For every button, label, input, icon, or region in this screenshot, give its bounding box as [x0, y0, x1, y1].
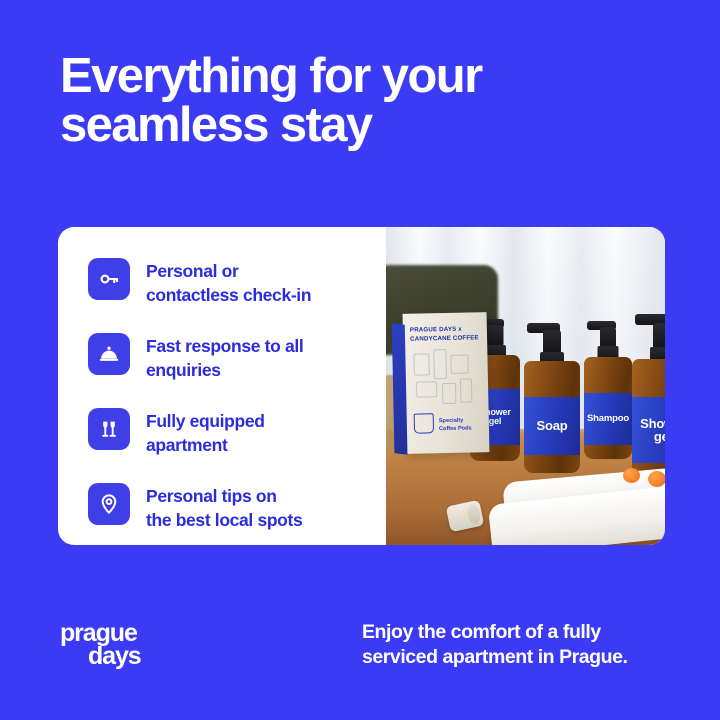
- feature-line-2: apartment: [146, 435, 227, 455]
- photo-bottle-3: Shampoo: [584, 323, 632, 459]
- feature-card: Personal or contactless check-in Fast re…: [58, 227, 665, 545]
- feature-line-1: Fast response to all: [146, 336, 303, 356]
- feature-item-label: Fast response to all enquiries: [146, 333, 303, 382]
- feature-line-2: enquiries: [146, 360, 221, 380]
- photo-bottle-4: Shower gel: [632, 317, 665, 483]
- coffee-bag-subtitle: Specialty Coffee Pods: [439, 418, 472, 433]
- coffee-bag-title-line-1: PRAGUE DAYS x: [410, 326, 462, 334]
- feature-line-2: contactless check-in: [146, 285, 311, 305]
- feature-line-2: the best local spots: [146, 510, 302, 530]
- photo-earplug-1: [623, 468, 640, 483]
- feature-item-local-tips: Personal tips on the best local spots: [88, 483, 386, 532]
- photo-coffee-bag: PRAGUE DAYS x CANDYCANE COFFEE Specialty…: [403, 312, 490, 454]
- footer-tagline: Enjoy the comfort of a fully serviced ap…: [362, 620, 682, 670]
- bottle-label-line-2: gel: [489, 416, 501, 426]
- page-title: Everything for your seamless stay: [60, 52, 700, 150]
- page-title-line-1: Everything for your: [60, 49, 482, 103]
- feature-line-1: Personal tips on: [146, 486, 277, 506]
- bottle-cap: [653, 323, 665, 349]
- glasses-icon: [88, 408, 130, 450]
- page-title-line-2: seamless stay: [60, 101, 700, 150]
- feature-item-response: Fast response to all enquiries: [88, 333, 386, 382]
- photo-earplug-2: [648, 471, 665, 487]
- coffee-bag-gusset: [392, 323, 408, 455]
- feature-item-check-in: Personal or contactless check-in: [88, 258, 386, 307]
- feature-line-1: Fully equipped: [146, 411, 265, 431]
- bottle-cap: [543, 330, 561, 354]
- amenities-photo: Shower gel Soap Shampoo: [386, 227, 665, 545]
- feature-item-label: Personal or contactless check-in: [146, 258, 311, 307]
- bottle-label-line-1: Shampoo: [587, 414, 629, 424]
- bottle-label-line-1: Soap: [537, 419, 568, 432]
- bottle-label: Shampoo: [584, 393, 632, 445]
- feature-line-1: Personal or: [146, 261, 238, 281]
- brand-logo[interactable]: prague days: [60, 622, 141, 668]
- bottle-label-line-2: gel: [654, 429, 665, 444]
- location-pin-icon: [88, 483, 130, 525]
- bottle-cap: [487, 325, 504, 347]
- bottle-label: Soap: [524, 397, 580, 455]
- feature-item-label: Fully equipped apartment: [146, 408, 265, 457]
- coffee-bag-subtitle-line-2: Coffee Pods: [439, 425, 472, 432]
- footer-tagline-line-2: serviced apartment in Prague.: [362, 645, 682, 670]
- photo-bottle-2: Soap: [524, 325, 580, 473]
- key-icon: [88, 258, 130, 300]
- bottle-cap: [600, 327, 616, 348]
- feature-item-equipped: Fully equipped apartment: [88, 408, 386, 457]
- coffee-bag-artwork: [411, 348, 481, 411]
- bell-icon: [88, 333, 130, 375]
- bottle-label: Shower gel: [632, 397, 665, 463]
- brand-logo-line-2: days: [60, 645, 141, 668]
- coffee-bag-subtitle-line-1: Specialty: [439, 418, 464, 425]
- footer-tagline-line-1: Enjoy the comfort of a fully: [362, 621, 601, 643]
- coffee-bag-title: PRAGUE DAYS x CANDYCANE COFFEE: [410, 325, 482, 344]
- coffee-cup-icon: [414, 413, 434, 433]
- feature-item-label: Personal tips on the best local spots: [146, 483, 302, 532]
- feature-list: Personal or contactless check-in Fast re…: [58, 227, 386, 545]
- coffee-bag-title-line-2: CANDYCANE COFFEE: [410, 334, 479, 342]
